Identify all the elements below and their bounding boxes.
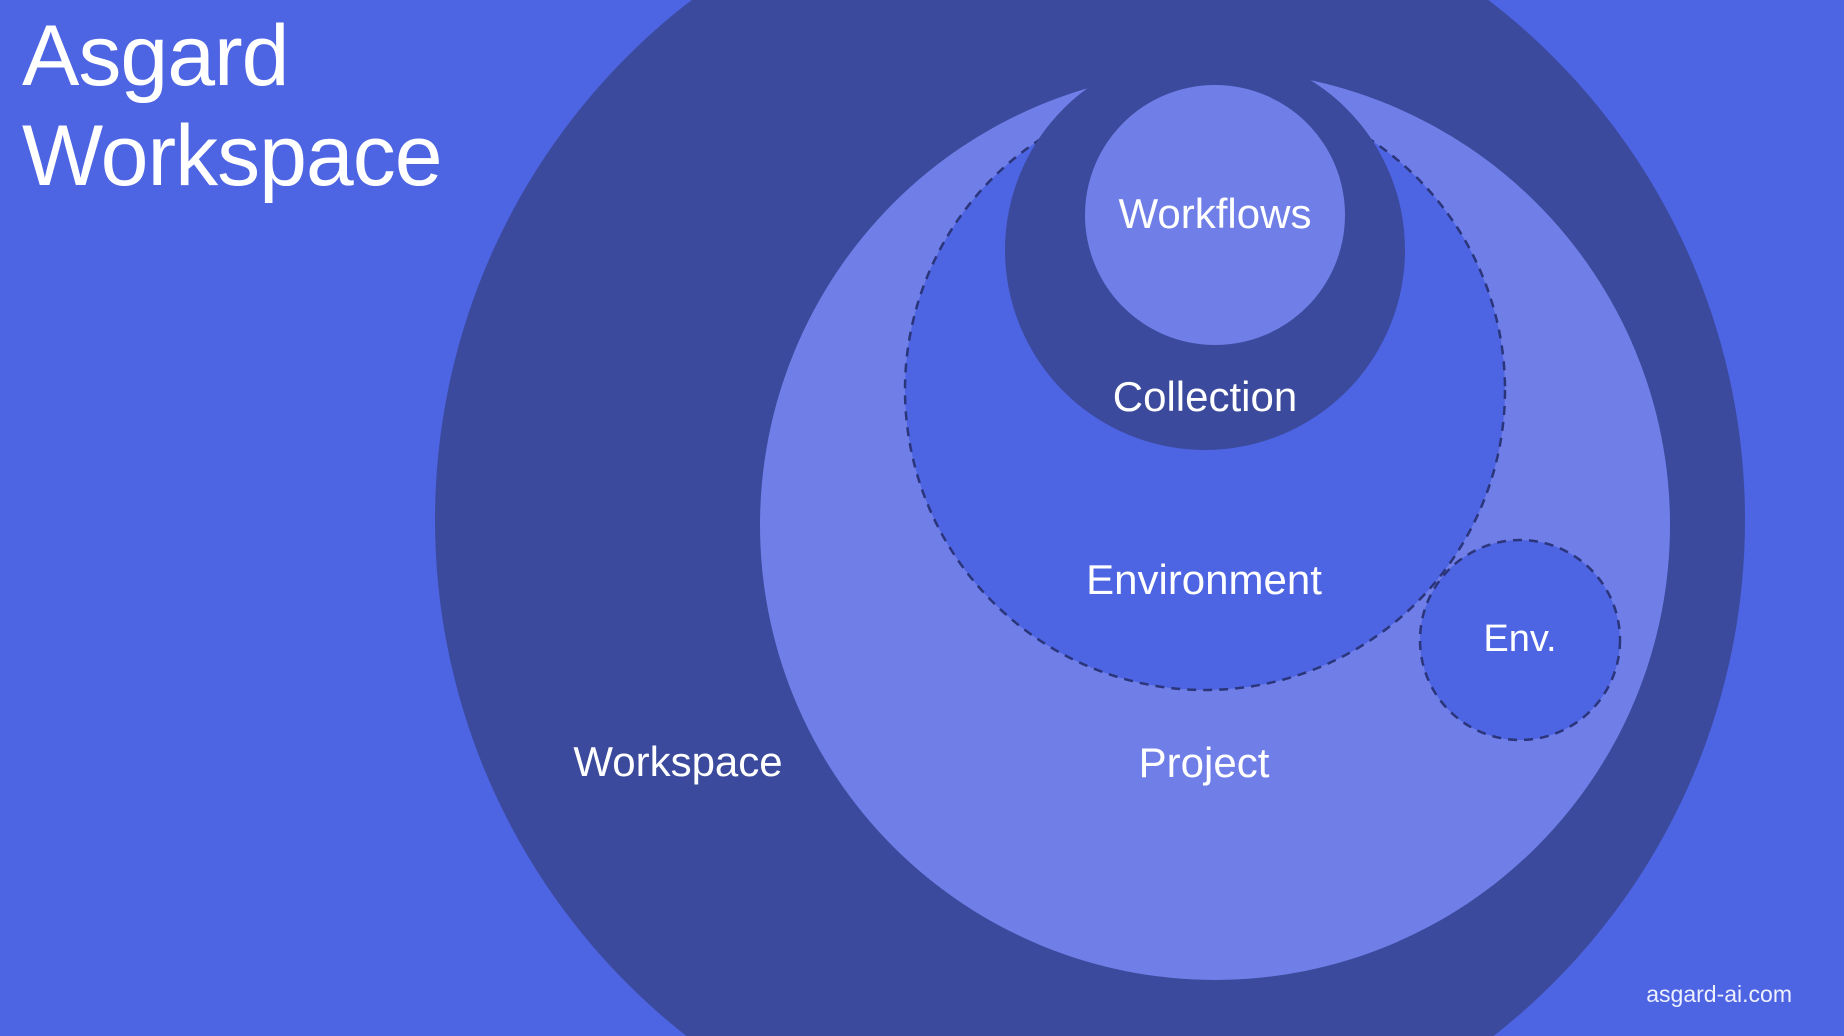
workspace-hierarchy-diagram: Workspace Project Environment Collection… xyxy=(0,0,1844,1036)
label-workspace: Workspace xyxy=(573,738,782,785)
label-environment-secondary: Env. xyxy=(1483,618,1556,660)
page-title-line-1: Asgard xyxy=(22,8,289,104)
label-environment: Environment xyxy=(1086,556,1322,603)
label-collection: Collection xyxy=(1113,373,1297,420)
footer-website[interactable]: asgard-ai.com xyxy=(1646,981,1792,1007)
label-project: Project xyxy=(1139,739,1270,786)
page-title-line-2: Workspace xyxy=(22,108,442,204)
label-workflows: Workflows xyxy=(1119,190,1312,237)
slide-canvas: Workspace Project Environment Collection… xyxy=(0,0,1844,1036)
